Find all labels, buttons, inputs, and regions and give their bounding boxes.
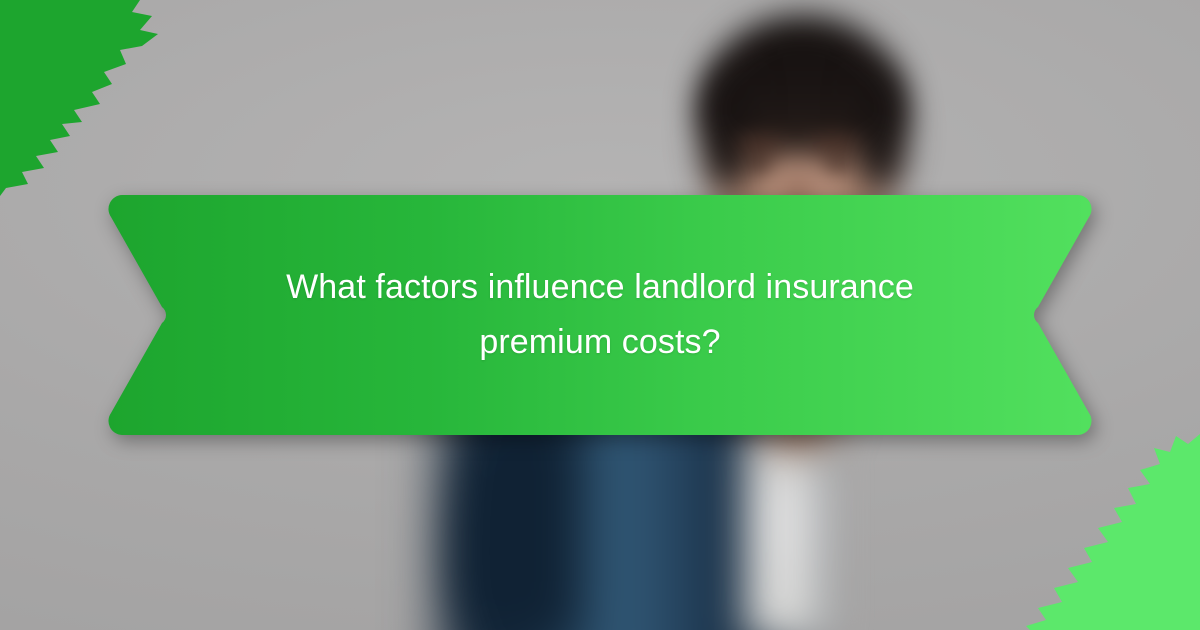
banner-canvas: What factors influence landlord insuranc… <box>0 0 1200 630</box>
subject-eyebrow-left <box>736 138 782 151</box>
subject-eye-left <box>746 158 772 170</box>
subject-eye-right <box>824 158 850 170</box>
subject-eyebrow-right <box>812 138 858 151</box>
subject-hair-left <box>702 70 750 190</box>
subject-tshirt <box>745 430 825 630</box>
ribbon-shape <box>108 195 1092 435</box>
headline-ribbon-banner <box>108 195 1092 435</box>
